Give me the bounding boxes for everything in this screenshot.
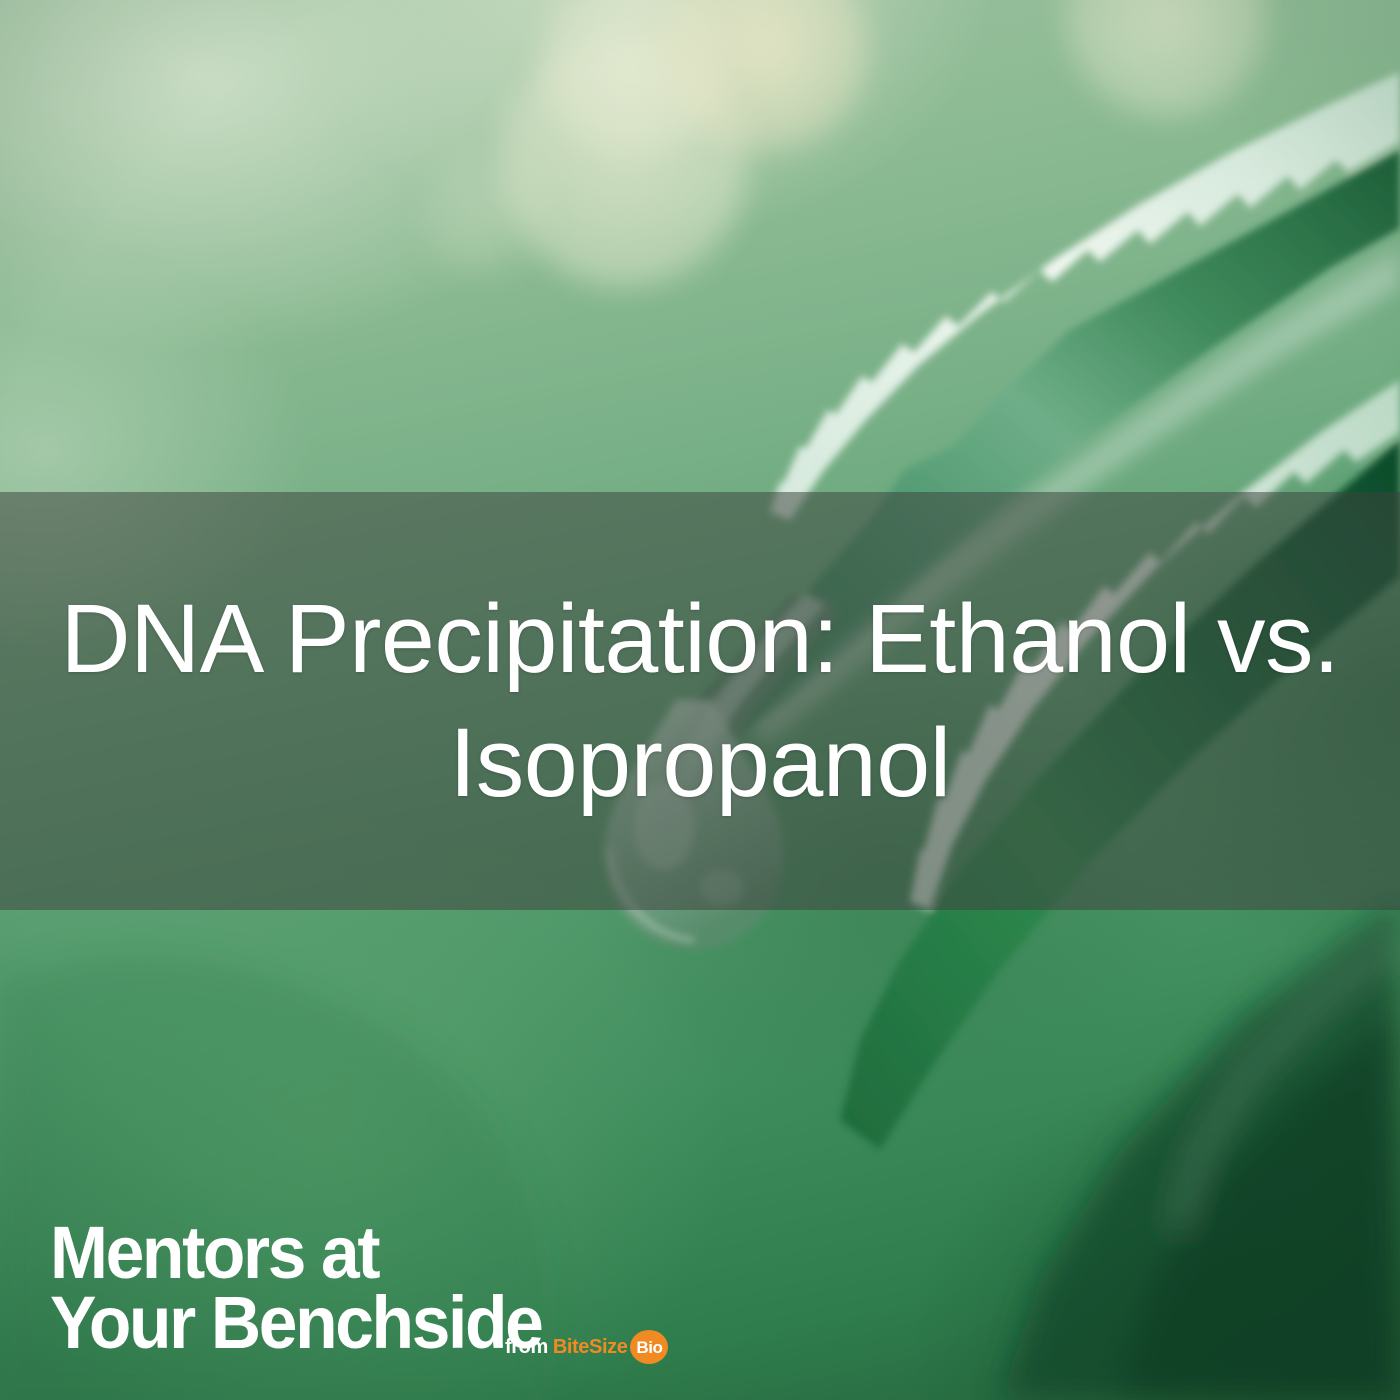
title-overlay-band: DNA Precipitation: Ethanol vs. Isopropan…: [0, 492, 1400, 910]
cover-image: DNA Precipitation: Ethanol vs. Isopropan…: [0, 0, 1400, 1400]
page-title: DNA Precipitation: Ethanol vs. Isopropan…: [0, 577, 1400, 825]
from-label: from: [505, 1337, 548, 1357]
bokeh-circle-icon: [540, 0, 726, 156]
background-foliage-lower-right: [1000, 900, 1400, 1400]
bokeh-circle-icon: [1064, 0, 1268, 118]
brand-line-1: Mentors at: [50, 1218, 652, 1288]
bokeh-circle-icon: [498, 36, 750, 288]
publisher-name: BiteSize: [553, 1337, 628, 1357]
bokeh-circle-icon: [420, 150, 550, 280]
brand-lockup: Mentors at Your Benchside from BiteSize …: [50, 1218, 690, 1358]
bokeh-circle-icon: [660, 0, 870, 152]
publisher-attribution: from BiteSize Bio: [505, 1330, 668, 1364]
bio-badge-icon: Bio: [630, 1330, 668, 1364]
